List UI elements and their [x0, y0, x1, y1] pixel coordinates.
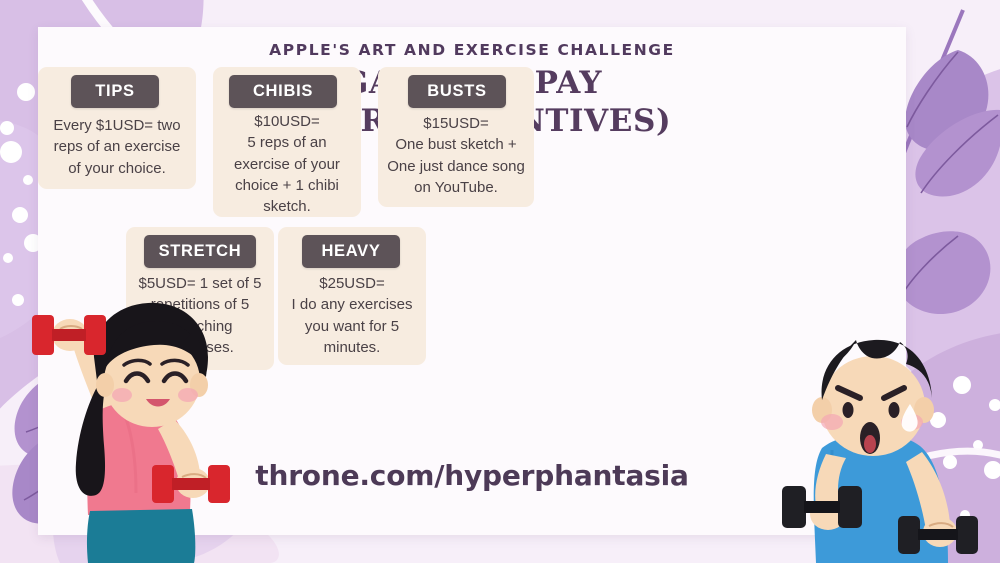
tier-label-tips: TIPS — [71, 75, 159, 108]
tier-label-heavy: HEAVY — [302, 235, 400, 268]
tier-label-busts: BUSTS — [408, 75, 506, 108]
man-lifting-dumbbells-illustration — [760, 318, 1000, 563]
tier-description-chibis: $10USD= 5 reps of an exercise of your ch… — [213, 111, 361, 217]
tier-label-stretch: STRETCH — [144, 235, 256, 268]
tier-description-heavy: $25USD= I do any exercises you want for … — [278, 273, 426, 358]
tier-description-busts: $15USD= One bust sketch + One just dance… — [378, 113, 534, 198]
tier-label-chibis: CHIBIS — [229, 75, 337, 108]
poster-canvas: APPLE'S ART AND EXERCISE CHALLENGE GAINS… — [0, 0, 1000, 563]
woman-lifting-dumbbells-illustration — [2, 293, 252, 563]
tier-description-tips: Every $1USD= two reps of an exercise of … — [38, 115, 196, 179]
